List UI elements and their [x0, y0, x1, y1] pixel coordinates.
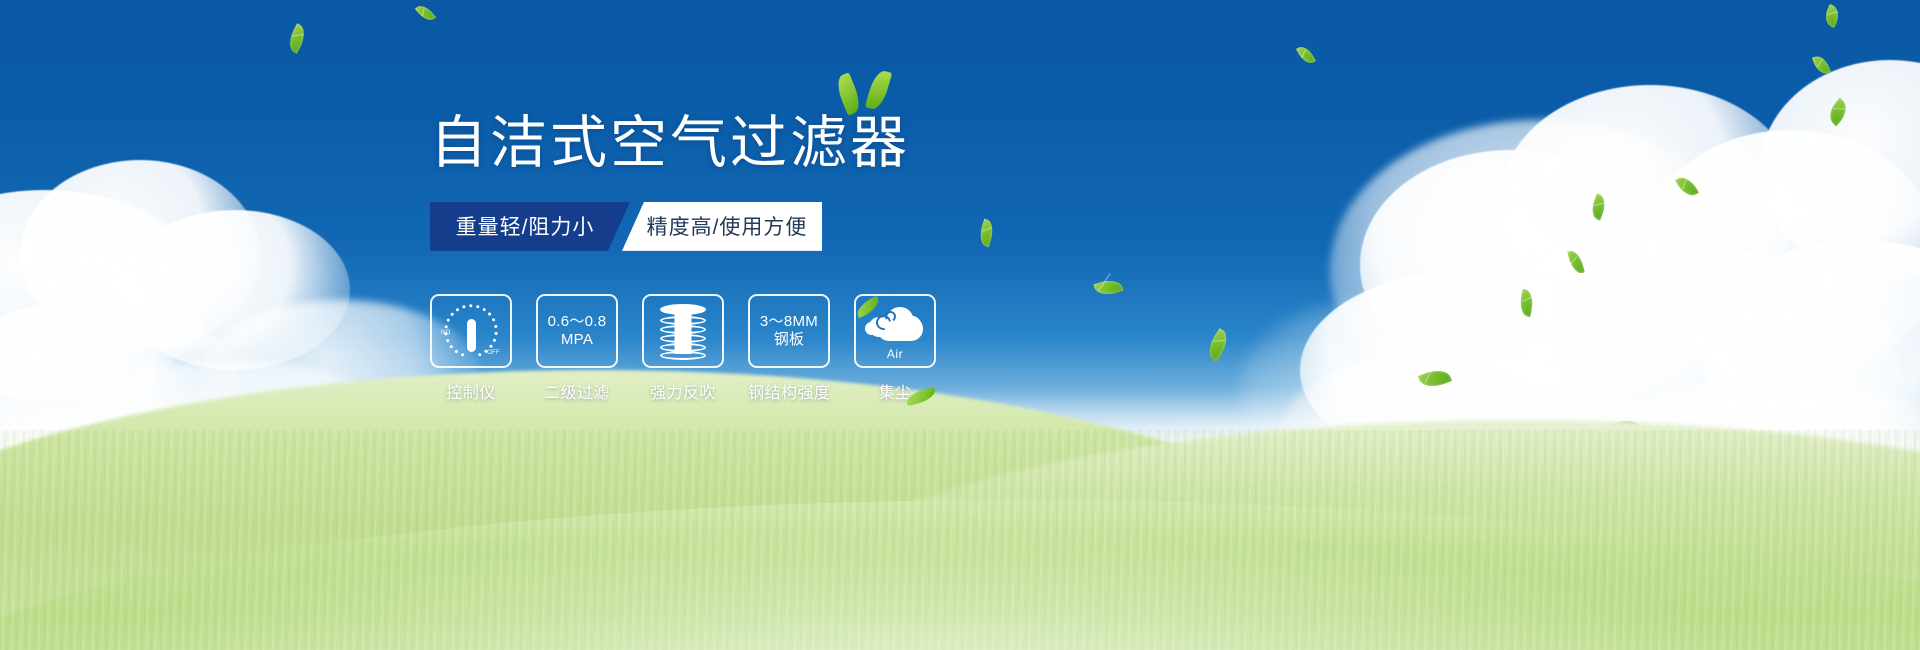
tagline-left: 重量轻/阻力小 — [430, 202, 630, 251]
feature-caption: 钢结构强度 — [748, 379, 830, 403]
floating-leaf — [1517, 289, 1535, 317]
leaf-shape — [865, 68, 892, 111]
pressure-line-2: MPA — [548, 331, 607, 349]
dial-label-no: NO — [441, 330, 451, 336]
feature-caption: 控制仪 — [430, 379, 512, 403]
dial-gauge-icon: NO OFF — [442, 303, 500, 359]
air-cloud-icon: Air — [863, 303, 927, 359]
feature-icon-box — [642, 294, 724, 368]
steel-line-1: 3～8MM — [760, 313, 818, 331]
stack-disc — [660, 325, 706, 334]
cloud-decoration — [1640, 130, 1920, 380]
feature-item-backblow[interactable]: 强力反吹 — [642, 294, 724, 403]
floating-leaf — [415, 2, 436, 24]
page-title-text: 自洁式空气过滤器 — [430, 111, 910, 175]
floating-leaf — [1588, 193, 1609, 220]
air-label: Air — [863, 347, 927, 361]
pressure-line-1: 0.6～0.8 — [548, 313, 607, 331]
hill-front — [0, 500, 1920, 650]
feature-caption: 二级过滤 — [536, 379, 618, 403]
floating-leaf — [1296, 43, 1316, 66]
floating-leaf — [1675, 173, 1699, 200]
cloud-decoration — [1500, 85, 1800, 315]
cloud-decoration — [20, 160, 260, 350]
hill-back-right — [768, 420, 1920, 620]
stack-top-disc — [660, 304, 706, 315]
dial-needle — [467, 319, 476, 352]
leaf-shape — [854, 295, 883, 318]
feature-icon-box: Air — [854, 294, 936, 368]
feature-icon-box: 3～8MM 钢板 — [748, 294, 830, 368]
feature-caption: 强力反吹 — [642, 379, 724, 403]
leaf-shape — [833, 72, 864, 115]
title-leaf-icon — [834, 68, 904, 120]
grass-texture — [0, 430, 1920, 650]
product-hero-banner: 自洁式空气过滤器 重量轻/阻力小 精度高/使用方便 — [0, 0, 1920, 650]
cloud-decoration — [1360, 150, 1660, 380]
pressure-value-icon: 0.6～0.8 MPA — [548, 313, 607, 350]
steel-line-2: 钢板 — [760, 331, 818, 349]
floating-leaf — [1821, 4, 1842, 28]
steel-plate-value-icon: 3～8MM 钢板 — [760, 313, 818, 350]
page-title: 自洁式空气过滤器 — [430, 112, 1130, 176]
feature-item-dust[interactable]: Air 集尘 — [854, 294, 936, 403]
tagline-ribbon: 重量轻/阻力小 精度高/使用方便 — [430, 202, 822, 251]
banner-content: 自洁式空气过滤器 重量轻/阻力小 精度高/使用方便 — [430, 112, 1130, 403]
cloud-decoration — [120, 210, 350, 370]
floating-leaf — [1567, 249, 1584, 275]
hill-back — [0, 370, 1421, 630]
feature-icon-box: NO OFF — [430, 294, 512, 368]
filter-stack-icon — [657, 303, 709, 359]
feature-item-pressure[interactable]: 0.6～0.8 MPA 二级过滤 — [536, 294, 618, 403]
stack-disc — [660, 351, 706, 360]
grass-highlight — [0, 500, 1920, 650]
floating-leaf — [1812, 53, 1831, 76]
dial-label-off: OFF — [487, 350, 500, 356]
tagline-right: 精度高/使用方便 — [622, 202, 822, 251]
feature-item-controller[interactable]: NO OFF 控制仪 — [430, 294, 512, 403]
feature-icon-box: 0.6～0.8 MPA — [536, 294, 618, 368]
stack-disc — [660, 316, 706, 325]
feature-item-steel[interactable]: 3～8MM 钢板 钢结构强度 — [748, 294, 830, 403]
cloud-decoration — [1760, 60, 1920, 280]
stack-disc — [660, 334, 706, 343]
floating-leaf — [1824, 98, 1852, 127]
floating-leaf — [284, 23, 309, 53]
feature-icon-row: NO OFF 控制仪 0.6～0.8 MPA 二级过滤 — [430, 294, 1130, 403]
